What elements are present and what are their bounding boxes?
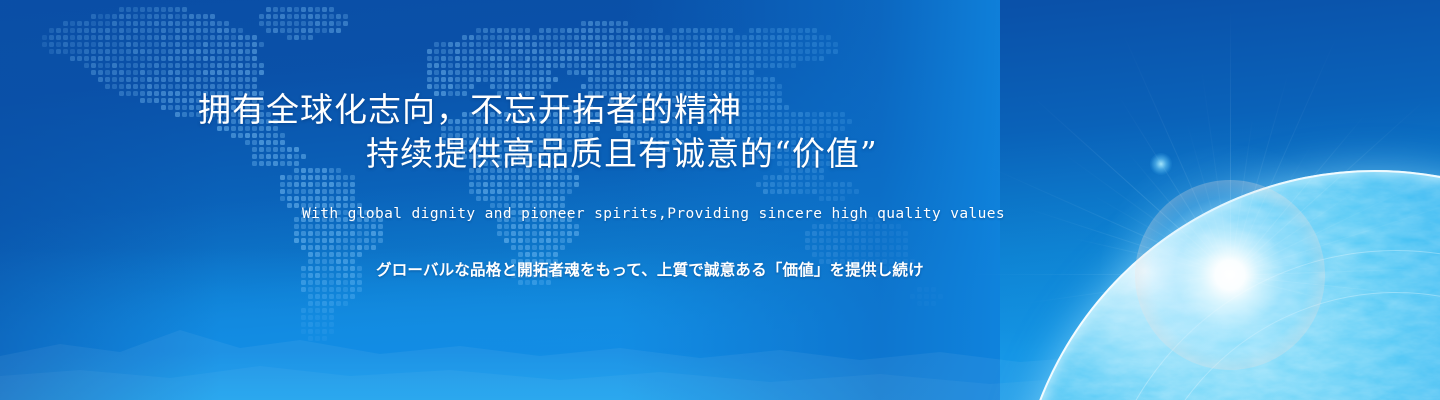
subtitle-japanese: グローバルな品格と開拓者魂をもって、上質で誠意ある「価値」を提供し続け [376, 258, 924, 280]
subtitle-english: With global dignity and pioneer spirits,… [302, 206, 1005, 222]
banner-copy: 拥有全球化志向，不忘开拓者的精神 持续提供高品质且有诚意的“价值” With g… [0, 0, 1440, 400]
headline-line-1: 拥有全球化志向，不忘开拓者的精神 [198, 88, 742, 132]
hero-banner: 拥有全球化志向，不忘开拓者的精神 持续提供高品质且有诚意的“价值” With g… [0, 0, 1440, 400]
headline-line-2: 持续提供高品质且有诚意的“价值” [366, 132, 878, 176]
